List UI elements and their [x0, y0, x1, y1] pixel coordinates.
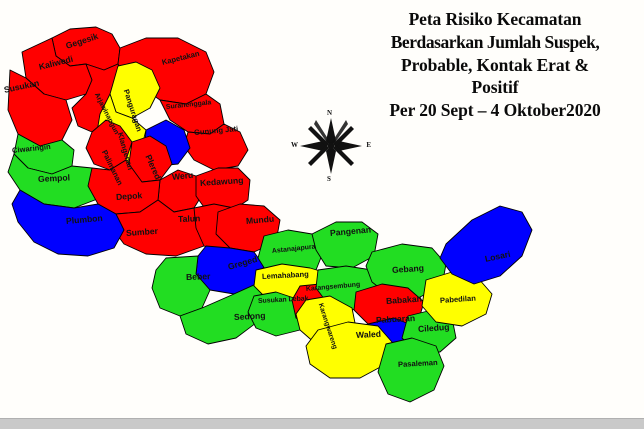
- district-shape-pasaleman[interactable]: [378, 338, 444, 402]
- district-shape-panguragan[interactable]: [110, 62, 160, 118]
- district-map: [0, 8, 560, 408]
- district-shape-losari[interactable]: [440, 206, 532, 284]
- map-canvas: Peta Risiko Kecamatan Berdasarkan Jumlah…: [0, 0, 644, 429]
- bottom-status-bar: [0, 418, 644, 429]
